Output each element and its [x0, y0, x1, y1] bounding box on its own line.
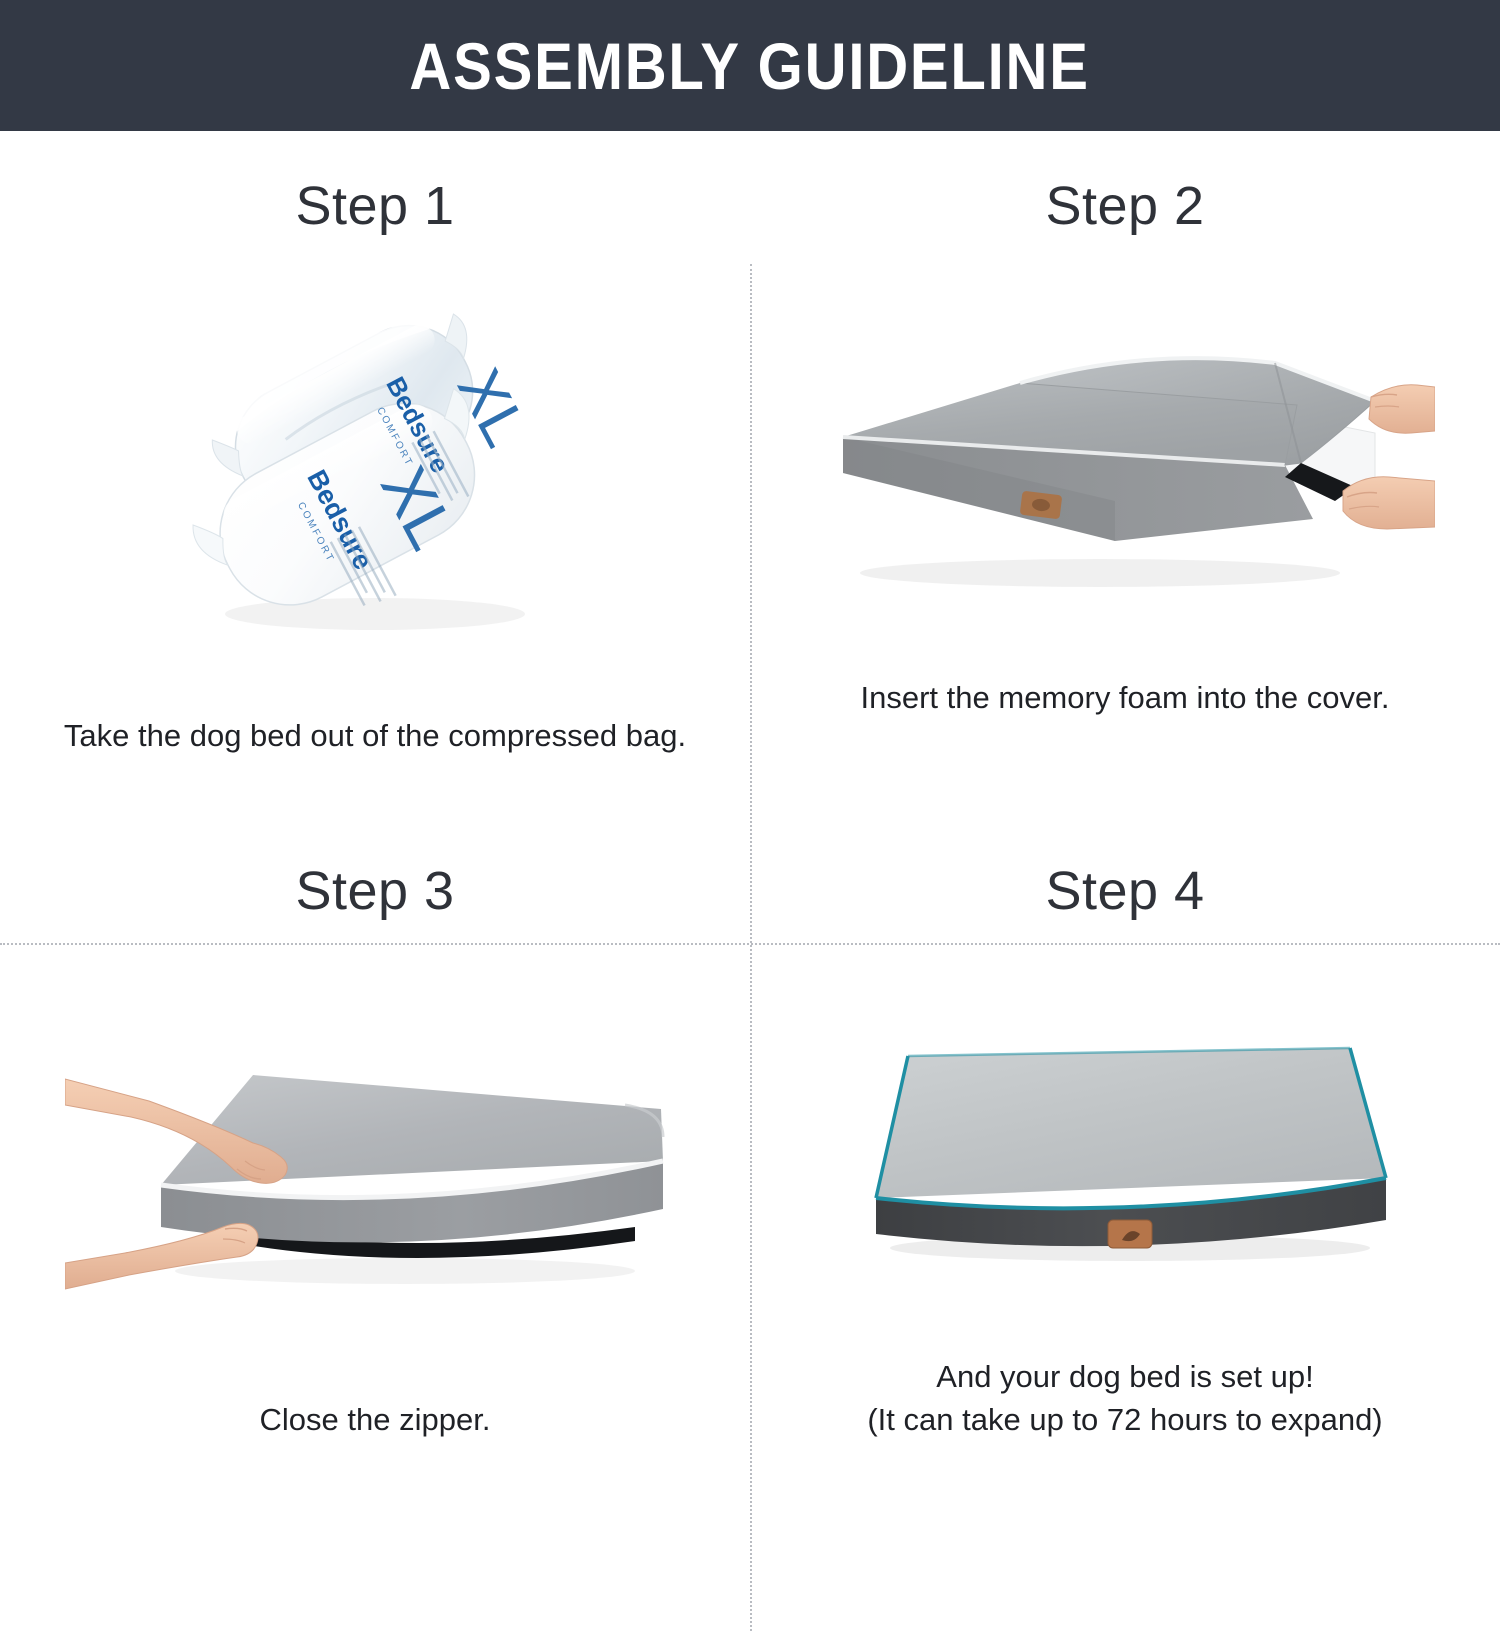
bed-top-surface — [876, 1048, 1386, 1198]
step-2-title: Step 2 — [1045, 179, 1204, 233]
leather-logo-tag — [1020, 491, 1063, 520]
step-4-caption-line-1: And your dog bed is set up! — [803, 1356, 1448, 1399]
step-3-title: Step 3 — [295, 864, 454, 918]
step-2-illustration — [750, 233, 1500, 677]
step-2-caption: Insert the memory foam into the cover. — [803, 677, 1448, 720]
hand-upper — [1369, 385, 1435, 433]
step-3-illustration — [0, 918, 750, 1400]
step-4-title: Step 4 — [1045, 864, 1204, 918]
step-card-4: Step 4 — [750, 816, 1500, 1501]
step-4-caption-line-2: (It can take up to 72 hours to expand) — [803, 1399, 1448, 1442]
bags-shadow — [225, 598, 525, 630]
page-title: ASSEMBLY GUIDELINE — [410, 28, 1090, 104]
finished-bed-graphic — [830, 1002, 1420, 1272]
step-card-1: Step 1 — [0, 131, 750, 816]
step-1-title: Step 1 — [295, 179, 454, 233]
leather-logo-tag — [1108, 1220, 1152, 1248]
hand-lower — [1343, 477, 1435, 529]
steps-grid: Step 1 — [0, 131, 1500, 1500]
step-card-2: Step 2 — [750, 131, 1500, 816]
divider-vertical — [750, 264, 752, 1631]
step-4-caption: And your dog bed is set up! (It can take… — [803, 1356, 1448, 1442]
step-1-illustration: Bedsure COMFORT XL Bedsure COMFORT — [0, 233, 750, 715]
step-card-3: Step 3 — [0, 816, 750, 1501]
page-header: ASSEMBLY GUIDELINE — [0, 0, 1500, 131]
close-zipper-graphic — [65, 1013, 685, 1303]
step-3-caption: Close the zipper. — [53, 1399, 698, 1442]
step-4-illustration — [750, 918, 1500, 1357]
step-1-caption: Take the dog bed out of the compressed b… — [53, 715, 698, 758]
insert-foam-graphic — [815, 305, 1435, 605]
compressed-bags-graphic: Bedsure COMFORT XL Bedsure COMFORT — [160, 309, 590, 639]
bed-shadow — [860, 559, 1340, 587]
bed-shadow — [175, 1258, 635, 1284]
